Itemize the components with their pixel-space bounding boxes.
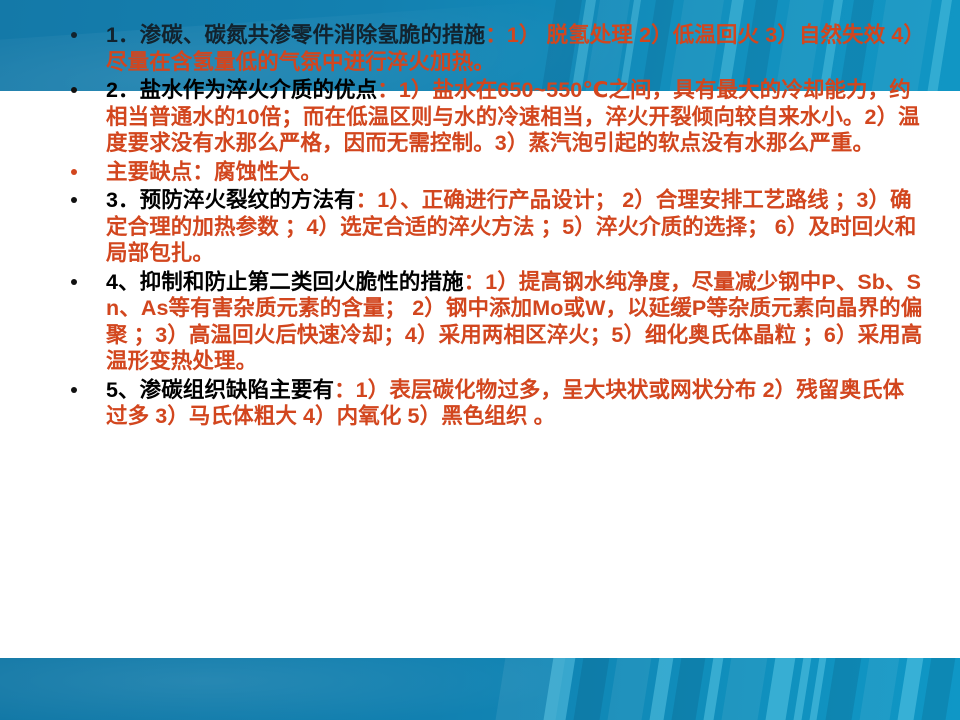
footer-ray <box>570 658 613 720</box>
footer-ray <box>762 658 799 720</box>
bullet-item: 1．渗碳、碳氮共渗零件消除氢脆的措施：1） 脱氢处理 2）低温回火 3）自然失效… <box>62 22 924 75</box>
bullet-marker-icon <box>71 197 77 203</box>
footer-ray <box>822 658 865 720</box>
footer-ray <box>700 658 727 720</box>
bullet-item: 主要缺点：腐蚀性大。 <box>62 159 924 186</box>
bullet-item: 2．盐水作为淬火介质的优点：1）盐水在650~550℃之间，具有最大的冷却能力，… <box>62 77 924 157</box>
bullet-marker-icon <box>71 32 77 38</box>
footer-ray <box>668 658 709 720</box>
bullet-lead-text: 1．渗碳、碳氮共渗零件消除氢脆的措施 <box>106 23 485 47</box>
bullet-item: 3．预防淬火裂纹的方法有：1）、正确进行产品设计； 2）合理安排工艺路线 ；3）… <box>62 187 924 267</box>
footer-band-sheen <box>0 658 576 720</box>
footer-ray <box>604 658 655 720</box>
bullet-item: 5、渗碳组织缺陷主要有：1）表层碳化物过多，呈大块状或网状分布 2）残留奥氏体过… <box>62 377 924 430</box>
presentation-slide: 1．渗碳、碳氮共渗零件消除氢脆的措施：1） 脱氢处理 2）低温回火 3）自然失效… <box>0 0 960 720</box>
bullet-lead-text: 3．预防淬火裂纹的方法有 <box>106 188 356 212</box>
footer-ray <box>918 658 959 720</box>
footer-ray <box>856 658 903 720</box>
bullet-marker-icon <box>71 279 77 285</box>
footer-ray <box>718 658 771 720</box>
slide-footer-band <box>0 658 960 720</box>
slide-body: 1．渗碳、碳氮共渗零件消除氢脆的措施：1） 脱氢处理 2）低温回火 3）自然失效… <box>0 0 960 720</box>
bullet-lead-text: 4、抑制和防止第二类回火脆性的措施 <box>106 270 464 294</box>
footer-ray <box>806 658 830 720</box>
footer-ray <box>790 658 815 720</box>
bullet-lead-text: 主要缺点：腐蚀性大。 <box>106 160 322 184</box>
bullet-lead-text: 2．盐水作为淬火介质的优点 <box>106 78 377 102</box>
footer-ray <box>894 658 927 720</box>
bullet-marker-icon <box>71 387 77 393</box>
bullet-list: 1．渗碳、碳氮共渗零件消除氢脆的措施：1） 脱氢处理 2）低温回火 3）自然失效… <box>62 22 924 432</box>
bullet-item: 4、抑制和防止第二类回火脆性的措施：1）提高钢水纯净度，尽量减少钢中P、Sb、S… <box>62 269 924 375</box>
bullet-lead-text: 5、渗碳组织缺陷主要有 <box>106 378 334 402</box>
bullet-marker-icon <box>71 87 77 93</box>
footer-ray <box>646 658 677 720</box>
bullet-marker-icon <box>71 169 77 175</box>
footer-band-rays <box>0 658 960 720</box>
